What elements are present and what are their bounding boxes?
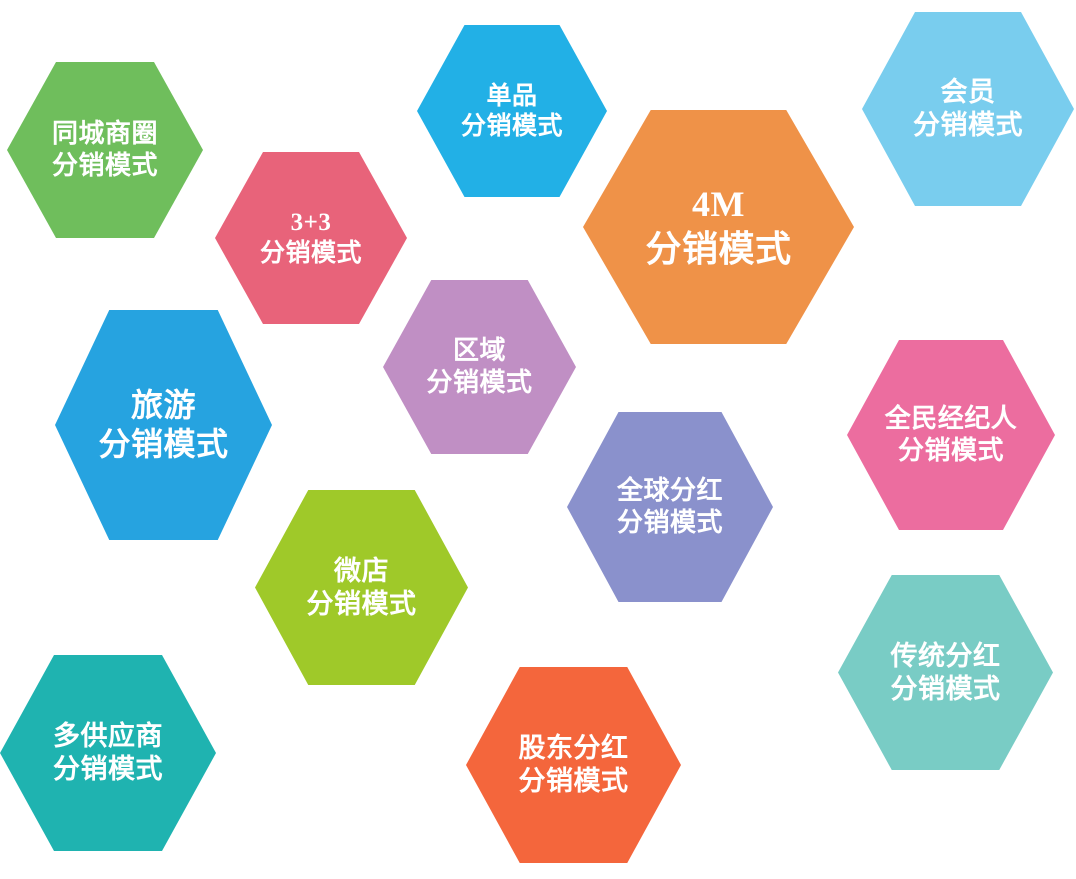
hexagon-node-chuantong-fenhong[interactable]: 传统分红分销模式 — [838, 575, 1053, 770]
hexagon-label-primary: 会员 — [941, 76, 996, 109]
hexagon-label-secondary: 分销模式 — [891, 673, 1001, 706]
hexagon-label-secondary: 分销模式 — [307, 588, 417, 621]
hexagon-node-four-m[interactable]: 4M分销模式 — [583, 110, 854, 344]
hexagon-node-lvyou[interactable]: 旅游分销模式 — [55, 310, 272, 540]
hexagon-label-primary: 股东分红 — [519, 732, 629, 765]
hexagon-label-secondary: 分销模式 — [898, 435, 1004, 467]
hexagon-node-huiyuan[interactable]: 会员分销模式 — [862, 12, 1074, 206]
hexagon-label-primary: 全球分红 — [617, 475, 723, 507]
hexagon-label-secondary: 分销模式 — [913, 109, 1023, 142]
hexagon-node-danpin[interactable]: 单品分销模式 — [417, 25, 607, 197]
hexagon-label-secondary: 分销模式 — [461, 111, 563, 142]
hexagon-diagram-canvas: 同城商圈分销模式单品分销模式会员分销模式3+3分销模式4M分销模式区域分销模式旅… — [0, 0, 1076, 879]
hexagon-label-secondary: 分销模式 — [519, 765, 629, 798]
hexagon-label-primary: 旅游 — [131, 386, 196, 425]
hexagon-label-secondary: 分销模式 — [98, 425, 228, 464]
hexagon-node-quyu[interactable]: 区域分销模式 — [383, 280, 576, 454]
hexagon-label-secondary: 分销模式 — [260, 238, 362, 269]
hexagon-label-primary: 单品 — [486, 81, 537, 112]
hexagon-node-gudong-fenhong[interactable]: 股东分红分销模式 — [466, 667, 681, 863]
hexagon-label-primary: 区域 — [453, 335, 506, 367]
hexagon-label-primary: 多供应商 — [53, 720, 163, 753]
hexagon-label-primary: 4M — [692, 183, 745, 227]
hexagon-label-primary: 3+3 — [291, 208, 332, 239]
hexagon-node-weidian[interactable]: 微店分销模式 — [255, 490, 468, 685]
hexagon-label-secondary: 分销模式 — [53, 753, 163, 786]
hexagon-label-secondary: 分销模式 — [426, 367, 532, 399]
hexagon-label-secondary: 分销模式 — [617, 507, 723, 539]
hexagon-node-tongcheng-shangquan[interactable]: 同城商圈分销模式 — [7, 62, 203, 238]
hexagon-node-duo-gongyingshang[interactable]: 多供应商分销模式 — [0, 655, 216, 851]
hexagon-node-quanmin-jingjiren[interactable]: 全民经纪人分销模式 — [847, 340, 1055, 530]
hexagon-node-san-jia-san[interactable]: 3+3分销模式 — [215, 152, 407, 324]
hexagon-label-secondary: 分销模式 — [52, 150, 158, 182]
hexagon-label-primary: 全民经纪人 — [885, 403, 1018, 435]
hexagon-node-quanqiu-fenhong[interactable]: 全球分红分销模式 — [567, 412, 773, 602]
hexagon-label-primary: 微店 — [334, 555, 389, 588]
hexagon-label-secondary: 分销模式 — [645, 227, 791, 271]
hexagon-label-primary: 传统分红 — [891, 640, 1001, 673]
hexagon-label-primary: 同城商圈 — [52, 118, 158, 150]
